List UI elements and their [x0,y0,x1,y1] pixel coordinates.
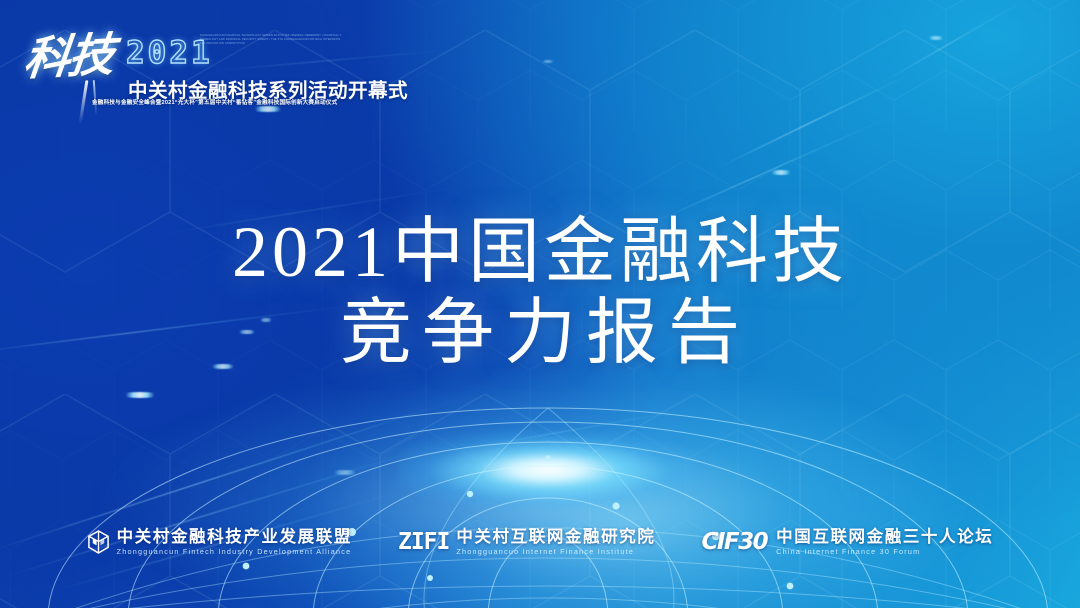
banner-english-microtext: ZHONGGUANCUN FINANCIAL TECHNOLOGY SERIES… [200,34,342,47]
banner-sub-line: 金融科技与金融安全峰会暨2021“光大杯”第五届中关村“番钻客”金融科技国际创新… [92,98,337,106]
logo-cn-label: 中关村金融科技产业发展联盟 [117,528,352,547]
title-line-1: 2021中国金融科技 [0,212,1080,292]
footer-logo-row: 中关村金融科技产业发展联盟 Zhongguancun Fintech Indus… [0,519,1080,565]
logo-cn-label: 中关村互联网金融研究院 [456,528,655,547]
cif30-wordmark-icon: CIF30 [701,530,767,555]
logo-cif30-forum: CIF30 中国互联网金融三十人论坛 China Internet Financ… [701,528,993,557]
title-line-2: 竞争力报告 [0,292,1080,374]
brush-calligraphy-logo: 科技 [20,21,136,99]
logo-en-label: Zhongguancuo Internet Finance Institute [456,547,655,557]
logo-zgc-internet-finance-institute: ZIFI 中关村互联网金融研究院 Zhongguancuo Internet F… [398,528,656,557]
logo-cn-label: 中国互联网金融三十人论坛 [776,528,993,547]
poster-canvas: 科技 2021 ZHONGGUANCUN FINANCIAL TECHNOLOG… [0,0,1080,608]
logo-zgc-fintech-alliance: 中关村金融科技产业发展联盟 Zhongguancun Fintech Indus… [87,528,352,557]
logo-en-label: China Internet Finance 30 Forum [776,547,993,557]
poster-title: 2021中国金融科技 竞争力报告 [0,212,1080,374]
cube-icon [87,530,110,555]
event-banner-logo: 科技 2021 ZHONGGUANCUN FINANCIAL TECHNOLOG… [24,22,344,104]
zifi-wordmark-icon: ZIFI [398,530,449,555]
logo-en-label: Zhongguancun Fintech Industry Developmen… [117,547,352,557]
